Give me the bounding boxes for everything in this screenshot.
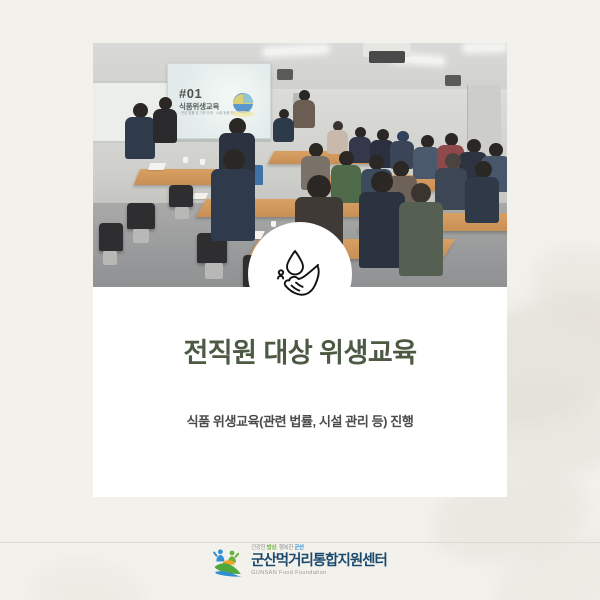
chair	[169, 185, 193, 207]
chair-base	[175, 207, 189, 219]
projector	[369, 51, 405, 63]
poster-canvas: #01 식품위생교육 · 관련 법률 및 기준 안내 · 시설 위생 관리 수칙…	[0, 0, 600, 600]
gunsan-food-foundation-logo-mark	[213, 546, 244, 577]
chair	[99, 223, 123, 251]
chair	[127, 203, 155, 229]
tagline-middle: , 행복한	[276, 545, 294, 551]
logo-text-block: 건강한 밥상, 행복한 군산 군산먹거리통합지원센터 GUNSAN Food F…	[251, 546, 387, 577]
paper	[148, 163, 167, 170]
tagline-highlight-bapsang: 밥상	[267, 545, 277, 551]
organization-name-english: GUNSAN Food Foundation	[251, 571, 387, 577]
organization-name: 군산먹거리통합지원센터	[251, 554, 387, 569]
handwashing-icon-badge	[248, 222, 352, 326]
slide-number: #01	[179, 86, 202, 101]
background-leaf-shadow	[519, 226, 600, 353]
paper-cup	[183, 157, 188, 163]
ceiling-speaker	[445, 75, 461, 86]
paper-cup	[200, 159, 205, 165]
page-title: 전직원 대상 위생교육	[93, 331, 507, 370]
tagline-prefix: 건강한	[251, 545, 267, 551]
projection-screen: #01 식품위생교육 · 관련 법률 및 기준 안내 · 시설 위생 관리 수칙…	[167, 63, 271, 139]
chair-base	[103, 251, 117, 265]
slide-artwork	[228, 90, 258, 120]
footer-logo: 건강한 밥상, 행복한 군산 군산먹거리통합지원센터 GUNSAN Food F…	[0, 546, 600, 577]
ceiling-speaker	[277, 69, 293, 80]
page-subtitle: 식품 위생교육(관련 법률, 시설 관리 등) 진행	[93, 411, 507, 430]
paper	[192, 193, 209, 199]
chair-base	[133, 229, 149, 243]
chair-base	[205, 263, 223, 279]
paper-cup	[271, 221, 276, 227]
footer-divider	[0, 542, 600, 543]
logo-tagline: 건강한 밥상, 행복한 군산	[251, 546, 387, 551]
tagline-highlight-gunsan: 군산	[294, 545, 304, 551]
handwashing-icon	[270, 244, 330, 304]
